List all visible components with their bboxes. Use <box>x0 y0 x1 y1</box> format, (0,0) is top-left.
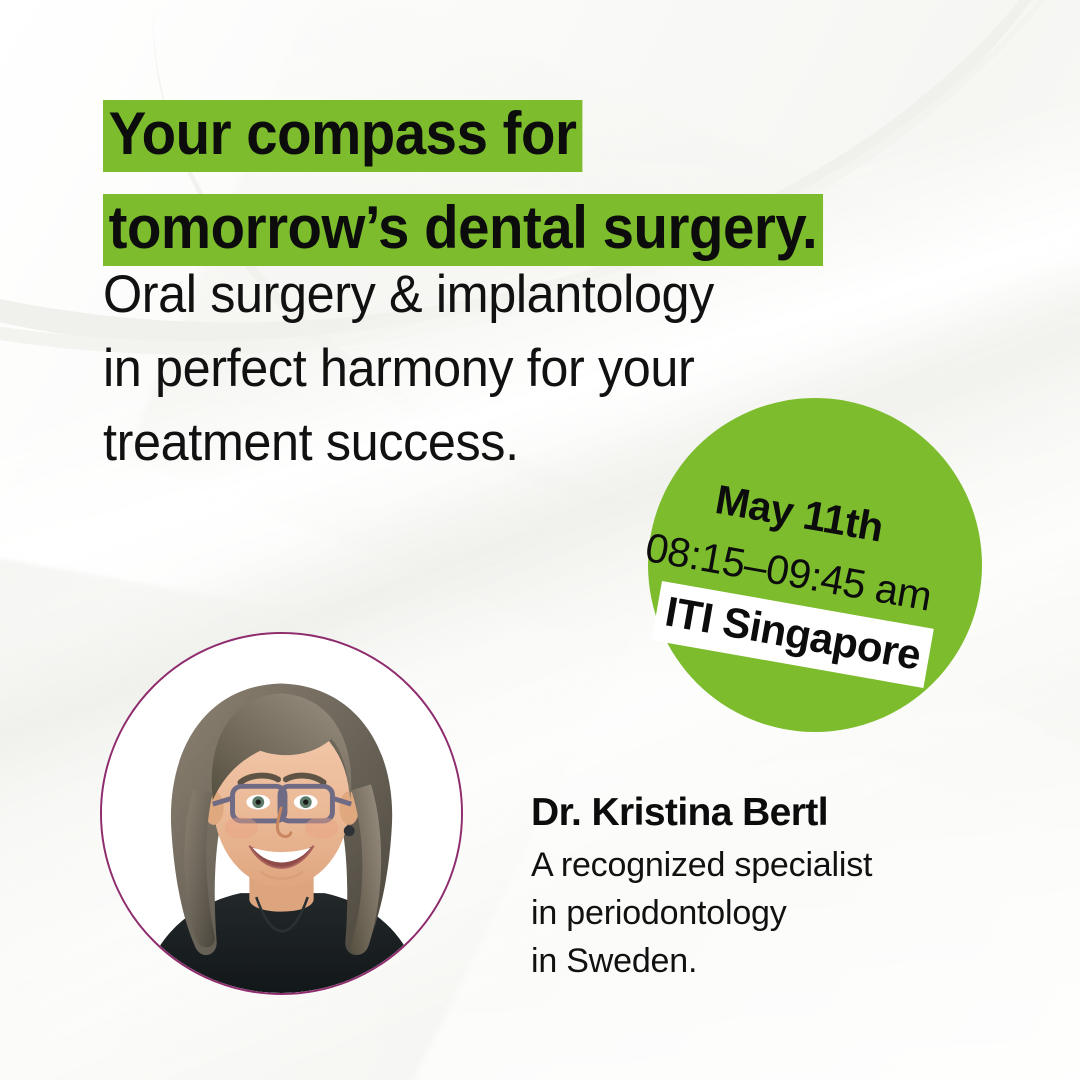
subheadline-line-2: in perfect harmony for your <box>103 332 882 406</box>
event-badge-content: May 11th 08:15–09:45 am ITI Singapore <box>648 398 982 732</box>
headline-line-1: Your compass for <box>103 100 582 172</box>
subheadline-line-1: Oral surgery & implantology <box>103 258 882 332</box>
headline-line-2: tomorrow’s dental surgery. <box>103 194 823 266</box>
speaker-bio-line-1: A recognized specialist <box>531 841 961 889</box>
speaker-info: Dr. Kristina Bertl A recognized speciali… <box>531 789 961 985</box>
speaker-bio-line-3: in Sweden. <box>531 937 961 985</box>
speaker-name: Dr. Kristina Bertl <box>531 789 961 837</box>
event-badge-circle: May 11th 08:15–09:45 am ITI Singapore <box>648 398 982 732</box>
speaker-bio-line-2: in periodontology <box>531 889 961 937</box>
promo-poster: Your compass for tomorrow’s dental surge… <box>0 0 1080 1080</box>
speaker-bio: A recognized specialist in periodontolog… <box>531 841 961 985</box>
avatar <box>100 632 463 995</box>
portrait-illustration <box>102 634 461 993</box>
